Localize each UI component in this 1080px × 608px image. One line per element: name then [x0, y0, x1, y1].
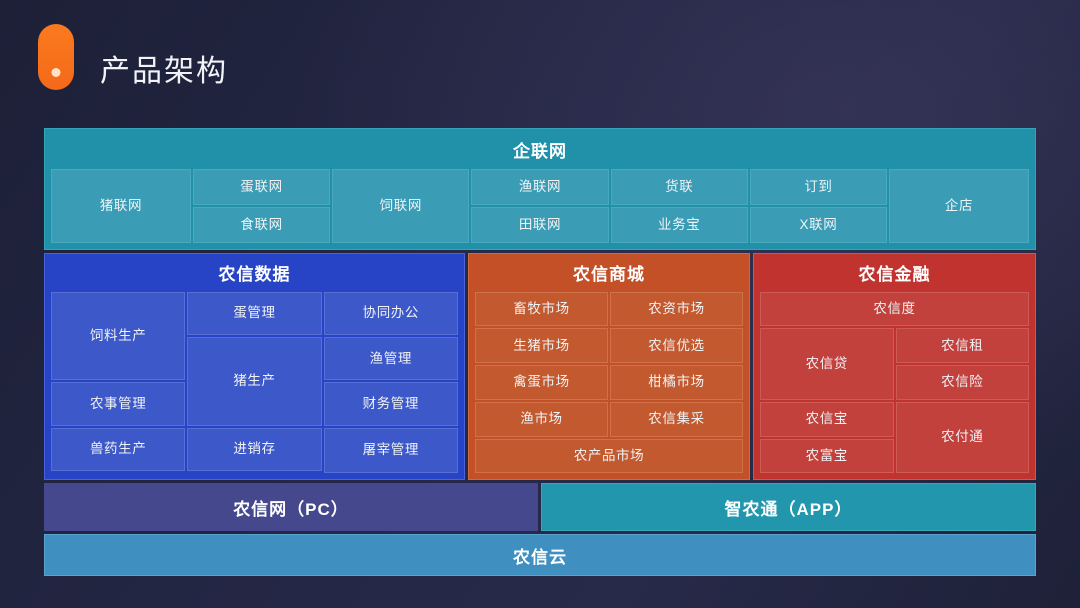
- nongxin-data-cell-grid: 饲料生产 蛋管理 协同办公 猪生产 渔管理 农事管理 财务管理 兽药生产 进销存…: [45, 292, 464, 479]
- cell-yulianwang[interactable]: 渔联网: [471, 169, 608, 205]
- cell-jinxiaocun[interactable]: 进销存: [187, 428, 321, 471]
- cell-nongxinzu[interactable]: 农信租: [896, 328, 1030, 363]
- band-title-qilianwang: 企联网: [45, 129, 1035, 169]
- cell-nongfubao[interactable]: 农富宝: [760, 439, 894, 474]
- bar-nongxinwang-pc[interactable]: 农信网（PC）: [44, 483, 538, 531]
- cell-nongxinjicai[interactable]: 农信集采: [610, 402, 743, 437]
- page-header: 产品架构: [0, 0, 1080, 128]
- nongxin-mall-cell-grid: 畜牧市场 农资市场 生猪市场 农信优选 禽蛋市场 柑橘市场 渔市场 农信集采 农…: [469, 292, 749, 479]
- qilianwang-cell-grid: 猪联网 蛋联网 饲联网 渔联网 货联 订到 企店 食联网 田联网 业务宝 X联网: [45, 169, 1035, 249]
- cell-tianlianwang[interactable]: 田联网: [471, 207, 608, 243]
- cell-nongxinxian[interactable]: 农信险: [896, 365, 1030, 400]
- cell-caiwuguanli[interactable]: 财务管理: [324, 382, 458, 425]
- cell-nongfutong[interactable]: 农付通: [896, 402, 1030, 473]
- cell-xlianwang[interactable]: X联网: [750, 207, 887, 243]
- band-nongxin-finance: 农信金融 农信度 农信贷 农信租 农信险 农信宝 农付通 农富宝: [753, 253, 1036, 480]
- cell-nongxindai[interactable]: 农信贷: [760, 328, 894, 399]
- cell-shouyaoshengchan[interactable]: 兽药生产: [51, 428, 185, 471]
- cell-yewubao[interactable]: 业务宝: [611, 207, 748, 243]
- band-nongxin-mall: 农信商城 畜牧市场 农资市场 生猪市场 农信优选 禽蛋市场 柑橘市场 渔市场 农…: [468, 253, 750, 480]
- cell-siliaoshengchan[interactable]: 饲料生产: [51, 292, 185, 381]
- cell-nongxinyouxuan[interactable]: 农信优选: [610, 328, 743, 363]
- cell-nongchanpinshichang[interactable]: 农产品市场: [475, 439, 743, 474]
- cell-danlianwang[interactable]: 蛋联网: [193, 169, 330, 205]
- middle-row: 农信数据 饲料生产 蛋管理 协同办公 猪生产 渔管理 农事管理 财务管理 兽药生…: [44, 253, 1036, 480]
- cell-zhushengchan[interactable]: 猪生产: [187, 337, 321, 426]
- architecture-diagram: 企联网 猪联网 蛋联网 饲联网 渔联网 货联 订到 企店 食联网 田联网 业务宝…: [44, 128, 1036, 576]
- logo-dot-icon: [52, 68, 61, 77]
- band-nongxin-data: 农信数据 饲料生产 蛋管理 协同办公 猪生产 渔管理 农事管理 财务管理 兽药生…: [44, 253, 465, 480]
- cell-xietongbangong[interactable]: 协同办公: [324, 292, 458, 335]
- band-title-nongxin-finance: 农信金融: [754, 254, 1035, 292]
- cell-silianwang[interactable]: 饲联网: [332, 169, 469, 243]
- cell-shengzhushichang[interactable]: 生猪市场: [475, 328, 608, 363]
- cell-nongshiguanli[interactable]: 农事管理: [51, 382, 185, 425]
- cell-yuguanli[interactable]: 渔管理: [324, 337, 458, 380]
- band-qilianwang: 企联网 猪联网 蛋联网 饲联网 渔联网 货联 订到 企店 食联网 田联网 业务宝…: [44, 128, 1036, 250]
- cell-qidian[interactable]: 企店: [889, 169, 1029, 243]
- cell-dingdao[interactable]: 订到: [750, 169, 887, 205]
- cell-ganjushichang[interactable]: 柑橘市场: [610, 365, 743, 400]
- cell-nongxinbao[interactable]: 农信宝: [760, 402, 894, 437]
- band-title-nongxin-data: 农信数据: [45, 254, 464, 292]
- cell-nongxindu[interactable]: 农信度: [760, 292, 1029, 327]
- nongxin-finance-cell-grid: 农信度 农信贷 农信租 农信险 农信宝 农付通 农富宝: [754, 292, 1035, 479]
- bar-zhinongtong-app[interactable]: 智农通（APP）: [541, 483, 1036, 531]
- cell-shilianwang[interactable]: 食联网: [193, 207, 330, 243]
- page-title: 产品架构: [100, 46, 228, 90]
- platform-bar-row: 农信网（PC） 智农通（APP）: [44, 483, 1036, 531]
- cell-yushichang[interactable]: 渔市场: [475, 402, 608, 437]
- orange-pill-logo-icon: [38, 24, 74, 90]
- bar-nongxin-cloud[interactable]: 农信云: [44, 534, 1036, 576]
- cell-dangaunli[interactable]: 蛋管理: [187, 292, 321, 335]
- cell-tuzaiguanli[interactable]: 屠宰管理: [324, 428, 458, 473]
- cell-xumushichang[interactable]: 畜牧市场: [475, 292, 608, 327]
- cell-nongzishichang[interactable]: 农资市场: [610, 292, 743, 327]
- cell-zhulianwang[interactable]: 猪联网: [51, 169, 191, 243]
- band-title-nongxin-mall: 农信商城: [469, 254, 749, 292]
- cell-qindanshichang[interactable]: 禽蛋市场: [475, 365, 608, 400]
- cell-huolian[interactable]: 货联: [611, 169, 748, 205]
